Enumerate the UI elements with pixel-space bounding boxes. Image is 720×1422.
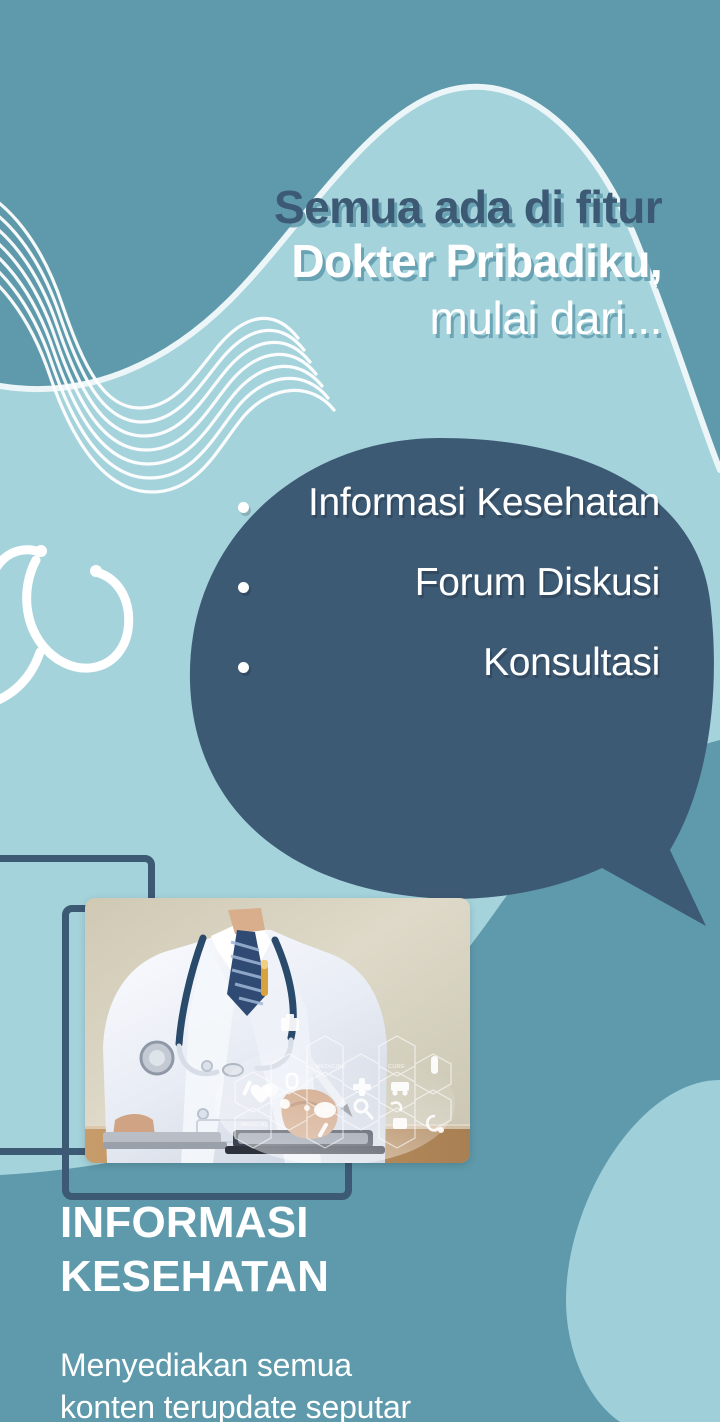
svg-text:MEDICAL: MEDICAL — [241, 1122, 268, 1128]
bottom-body-line-2: konten terupdate seputar — [60, 1387, 580, 1422]
bottom-title-line-2: KESEHATAN — [60, 1250, 580, 1304]
list-item-label: Konsultasi — [266, 640, 660, 686]
speech-bubble: Informasi Kesehatan Forum Diskusi Konsul… — [150, 430, 720, 930]
bottom-body-line-1: Menyediakan semua — [60, 1345, 580, 1387]
doctor-with-tablet-photo: MEDICINE CURE MEDICAL TH — [85, 898, 470, 1163]
headline-line-1: Semua ada di fitur — [60, 180, 662, 234]
list-item: Forum Diskusi — [220, 560, 660, 606]
svg-text:TH: TH — [281, 1064, 289, 1070]
list-item: Konsultasi — [220, 640, 660, 686]
headline-block: Semua ada di fitur Dokter Pribadiku, mul… — [60, 180, 662, 347]
poster-canvas: Semua ada di fitur Dokter Pribadiku, mul… — [0, 0, 720, 1422]
list-item: Informasi Kesehatan — [220, 480, 660, 526]
svg-text:MEDICINE: MEDICINE — [316, 1064, 346, 1070]
bullet-icon — [220, 480, 266, 513]
bubble-item-list: Informasi Kesehatan Forum Diskusi Konsul… — [220, 480, 660, 686]
bullet-icon — [220, 640, 266, 673]
list-item-label: Informasi Kesehatan — [266, 480, 660, 526]
bottom-title-line-1: INFORMASI — [60, 1196, 580, 1250]
headline-line-2: Dokter Pribadiku, — [60, 234, 662, 288]
svg-text:CURE: CURE — [388, 1064, 405, 1070]
bottom-text-block: INFORMASI KESEHATAN Menyediakan semua ko… — [60, 1196, 580, 1422]
headline-line-3: mulai dari... — [60, 289, 662, 348]
list-item-label: Forum Diskusi — [266, 560, 660, 606]
bullet-icon — [220, 560, 266, 593]
